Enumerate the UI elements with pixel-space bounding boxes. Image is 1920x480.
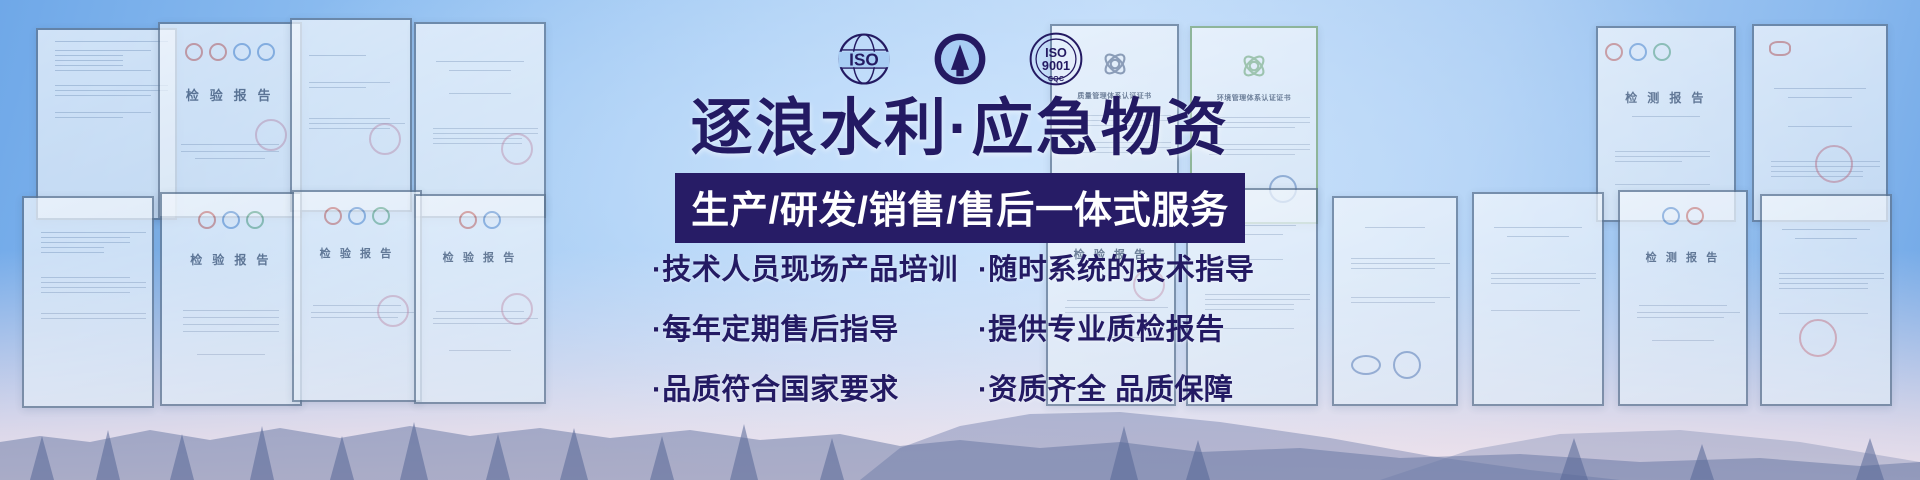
feature-item: ·每年定期售后指导 bbox=[652, 306, 952, 348]
certification-badge-row: ISO ISO 9001 CQC bbox=[0, 30, 1920, 88]
feature-row: ·每年定期售后指导 ·提供专业质检报告 bbox=[652, 306, 1268, 348]
headline-block: 逐浪水利·应急物资 生产/研发/销售/售后一体式服务 bbox=[0, 96, 1920, 243]
feature-row: ·技术人员现场产品培训 ·随时系统的技术指导 bbox=[652, 246, 1268, 288]
feature-item: ·随时系统的技术指导 bbox=[978, 246, 1268, 288]
svg-text:CQC: CQC bbox=[1048, 74, 1065, 83]
promo-banner: 检 验 报 告 bbox=[0, 0, 1920, 480]
svg-text:ISO: ISO bbox=[849, 49, 879, 69]
feature-item: ·技术人员现场产品培训 bbox=[652, 246, 952, 288]
feature-item: ·提供专业质检报告 bbox=[978, 306, 1268, 348]
feature-row: ·品质符合国家要求 ·资质齐全 品质保障 bbox=[652, 366, 1268, 408]
page-title: 逐浪水利·应急物资 bbox=[0, 96, 1920, 161]
feature-item: ·资质齐全 品质保障 bbox=[978, 366, 1268, 408]
svg-text:9001: 9001 bbox=[1042, 59, 1070, 73]
iso14000-badge bbox=[931, 30, 989, 88]
feature-item: ·品质符合国家要求 bbox=[652, 366, 952, 408]
service-subtitle: 生产/研发/销售/售后一体式服务 bbox=[675, 173, 1245, 243]
iso9001-badge: ISO 9001 CQC bbox=[1027, 30, 1085, 88]
feature-list: ·技术人员现场产品培训 ·随时系统的技术指导 ·每年定期售后指导 ·提供专业质检… bbox=[0, 246, 1920, 408]
iso-globe-badge: ISO bbox=[835, 30, 893, 88]
